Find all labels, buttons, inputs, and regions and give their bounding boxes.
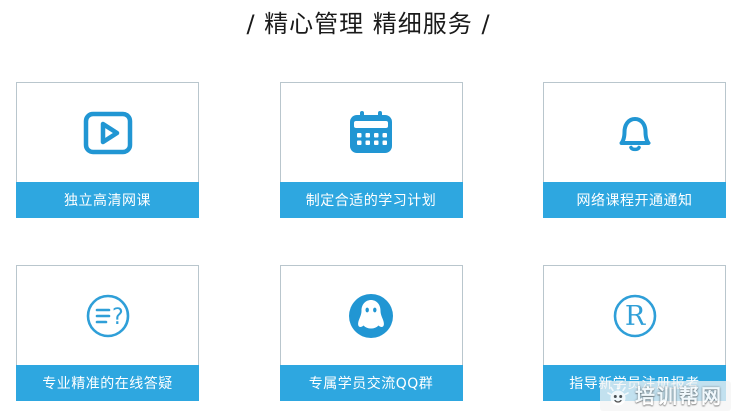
feature-card-qq-group[interactable]: 专属学员交流QQ群 (280, 265, 463, 401)
video-play-icon (81, 106, 135, 160)
svg-text:?: ? (112, 305, 124, 330)
card-icon-area (280, 265, 463, 365)
card-icon-area: R (543, 265, 726, 365)
site-watermark: 培训帮网 (600, 381, 731, 411)
card-icon-area: ? (16, 265, 199, 365)
page-title: / 精心管理 精细服务 / (0, 0, 737, 36)
registered-trademark-icon: R (607, 288, 663, 344)
svg-text:R: R (624, 301, 645, 332)
feature-card-notification[interactable]: 网络课程开通通知 (543, 82, 726, 218)
feature-card-calendar[interactable]: 制定合适的学习计划 (280, 82, 463, 218)
card-label: 专属学员交流QQ群 (280, 365, 463, 401)
card-label: 专业精准的在线答疑 (16, 365, 199, 401)
card-icon-area (280, 82, 463, 182)
feature-card-video[interactable]: 独立高清网课 (16, 82, 199, 218)
bell-icon (608, 106, 662, 160)
feature-card-grid: 独立高清网课 (16, 82, 726, 401)
card-icon-area (543, 82, 726, 182)
feature-card-qa[interactable]: ? 专业精准的在线答疑 (16, 265, 199, 401)
card-label: 网络课程开通通知 (543, 182, 726, 218)
card-row-1: 独立高清网课 (16, 82, 726, 218)
sun-smiley-logo-icon (606, 384, 630, 408)
card-label: 独立高清网课 (16, 182, 199, 218)
calendar-icon (344, 106, 398, 160)
watermark-text: 培训帮网 (635, 386, 723, 406)
question-answer-icon: ? (80, 288, 136, 344)
card-icon-area (16, 82, 199, 182)
qq-penguin-icon (343, 288, 399, 344)
card-label: 制定合适的学习计划 (280, 182, 463, 218)
